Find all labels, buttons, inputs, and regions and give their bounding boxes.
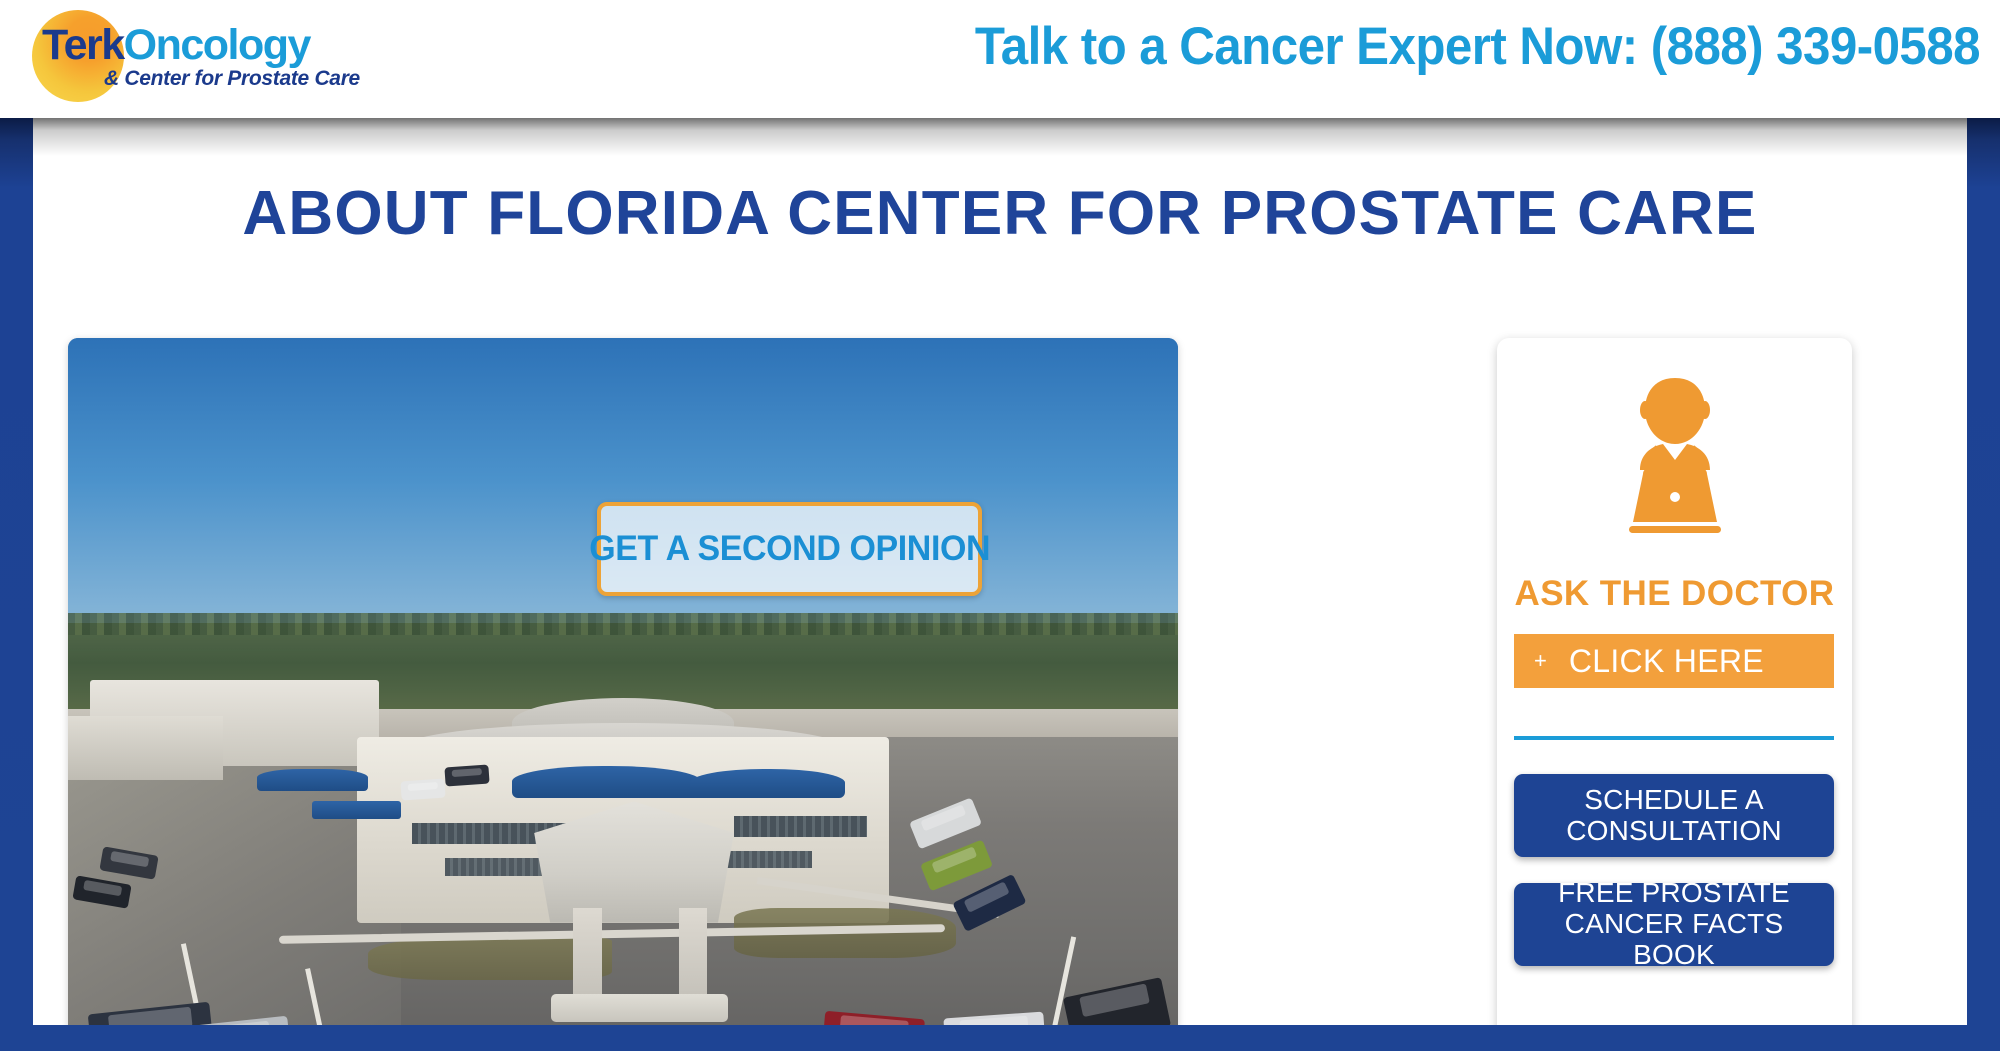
free-facts-book-button[interactable]: FREE PROSTATE CANCER FACTS BOOK xyxy=(1514,883,1834,966)
photo-windows-b xyxy=(734,816,867,837)
sidebar-divider xyxy=(1514,736,1834,740)
get-second-opinion-button[interactable]: GET A SECOND OPINION xyxy=(597,502,982,596)
photo-car xyxy=(400,779,446,801)
click-here-label: CLICK HERE xyxy=(1569,643,1764,680)
photo-blue-awning-4 xyxy=(312,801,401,818)
page-frame-left xyxy=(0,118,33,1051)
schedule-consultation-button[interactable]: SCHEDULE A CONSULTATION xyxy=(1514,774,1834,857)
logo-wordmark: TerkOncology xyxy=(42,24,310,67)
get-second-opinion-label: GET A SECOND OPINION xyxy=(589,529,990,569)
ask-the-doctor-card: ASK THE DOCTOR + CLICK HERE SCHEDULE A C… xyxy=(1497,338,1852,1051)
page-frame-right xyxy=(1967,118,2000,1051)
photo-blue-awning-1 xyxy=(512,766,701,798)
photo-windows-c xyxy=(445,858,545,875)
photo-car xyxy=(445,764,491,786)
ask-the-doctor-title: ASK THE DOCTOR xyxy=(1497,574,1852,614)
site-header: TerkOncology & Center for Prostate Care … xyxy=(0,0,2000,118)
hero-video-player[interactable]: GET A SECOND OPINION xyxy=(68,338,1178,1051)
photo-background-building-2 xyxy=(68,716,223,780)
phone-cta[interactable]: Talk to a Cancer Expert Now: (888) 339-0… xyxy=(659,14,1980,78)
main-content: ABOUT FLORIDA CENTER FOR PROSTATE CARE xyxy=(33,118,1967,1051)
photo-blue-awning-3 xyxy=(257,769,368,790)
photo-blue-awning-2 xyxy=(690,769,845,798)
page-root: TerkOncology & Center for Prostate Care … xyxy=(0,0,2000,1051)
logo-tagline: & Center for Prostate Care xyxy=(104,67,360,91)
doctor-at-laptop-icon xyxy=(1595,370,1755,560)
plus-icon: + xyxy=(1534,650,1547,672)
page-title: ABOUT FLORIDA CENTER FOR PROSTATE CARE xyxy=(33,178,1967,249)
site-logo[interactable]: TerkOncology & Center for Prostate Care xyxy=(18,4,438,104)
logo-brand-secondary: Oncology xyxy=(124,21,310,69)
logo-brand-primary: Terk xyxy=(42,21,124,69)
photo-canopy-base xyxy=(551,994,729,1023)
ask-doctor-click-here-button[interactable]: + CLICK HERE xyxy=(1514,634,1834,688)
page-frame-bottom xyxy=(0,1025,2000,1051)
